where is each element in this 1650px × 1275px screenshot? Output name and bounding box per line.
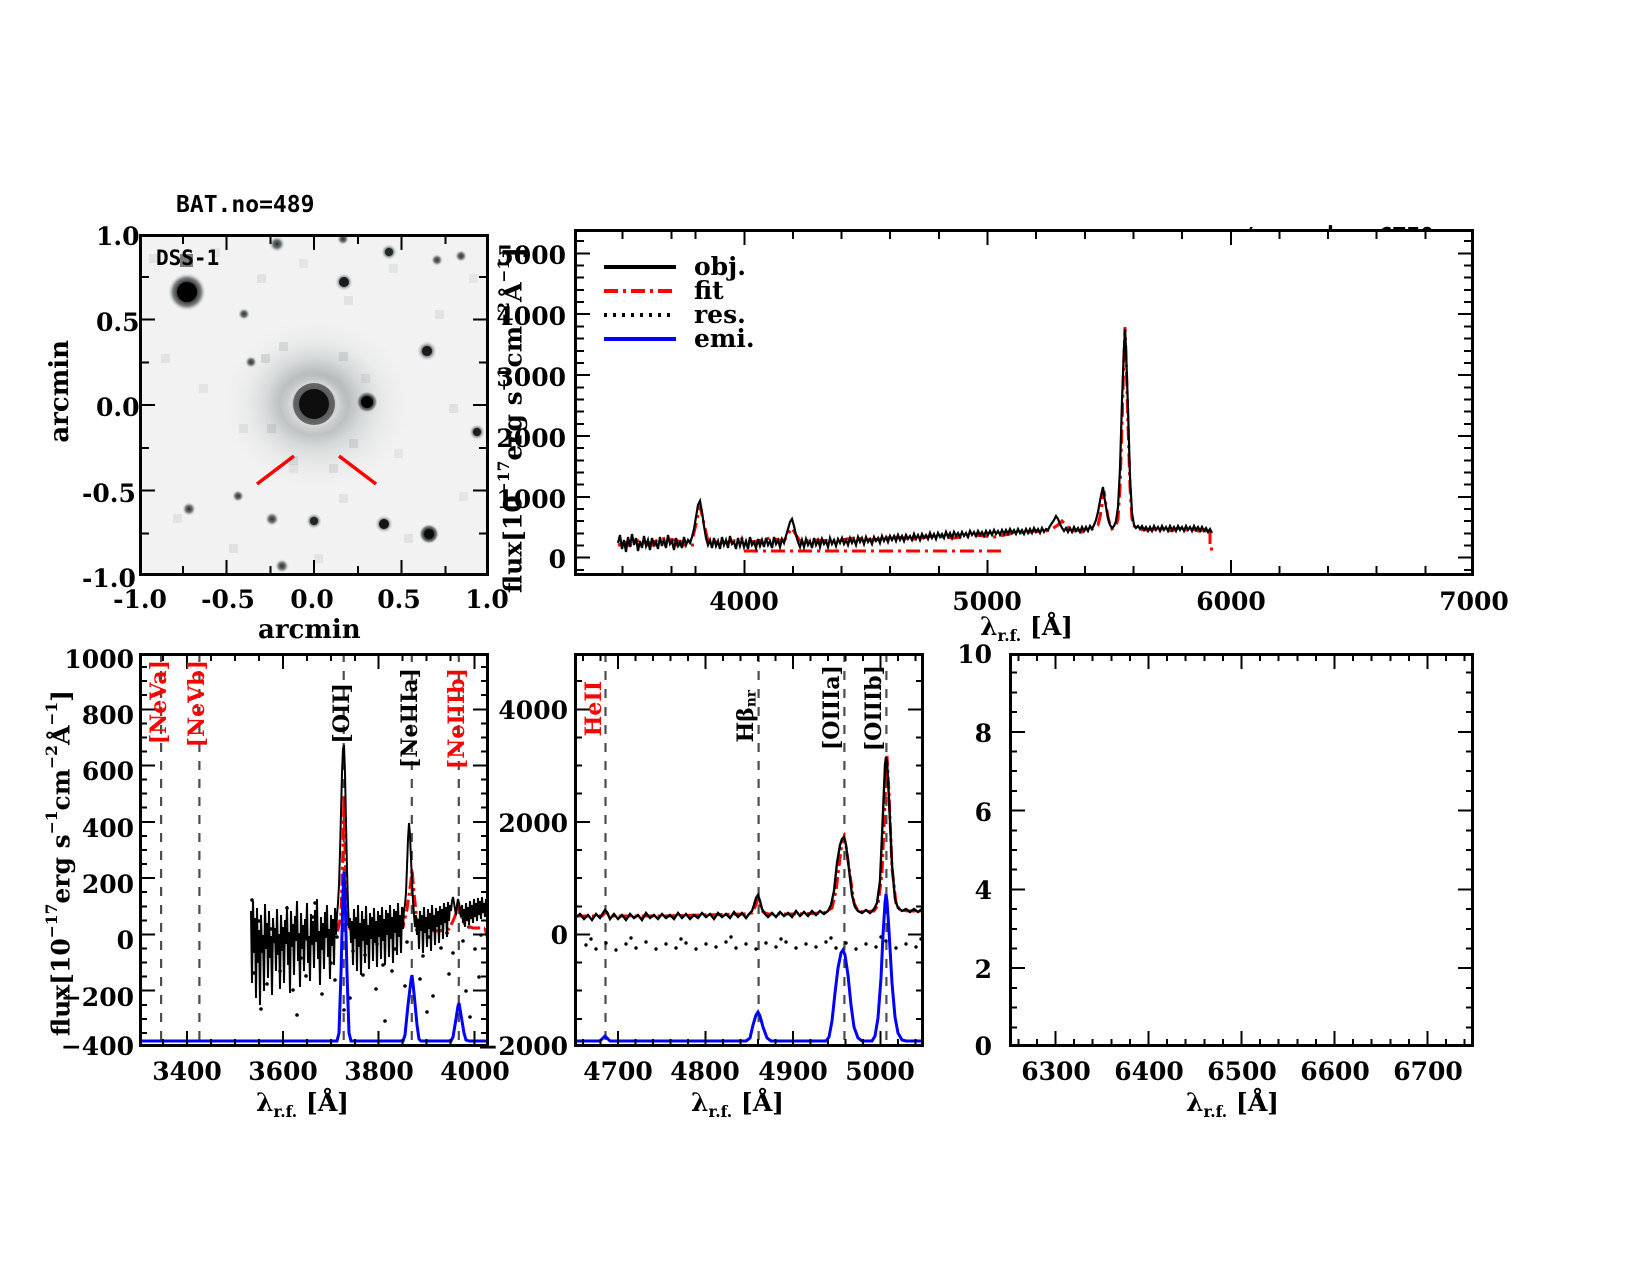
green-xtick-4800: 4800: [665, 1057, 745, 1086]
dss-ytick-0p0: 0.0: [96, 393, 132, 422]
red-xtick-6600: 6600: [1295, 1057, 1375, 1086]
red-zoom-xlabel: λr.f. [Å]: [1186, 1088, 1279, 1121]
red-ytick-0: 0: [932, 1032, 992, 1061]
line-label-hbeta: Hβnr: [733, 690, 759, 743]
line-label-neva: [NeVa]: [146, 660, 172, 744]
blue-ytick-1000: 1000: [42, 645, 134, 674]
red-zoom-canvas: [1009, 653, 1474, 1047]
dss-image-canvas: [139, 234, 489, 576]
spec-ylabel: flux[10−17erg s−1cm−2Å−1]: [494, 247, 527, 593]
spec-xtick-7000: 7000: [1434, 587, 1514, 616]
dss-ytick-1p0: 1.0: [96, 222, 132, 251]
line-label-oiiib: [OIIIb]: [861, 665, 887, 751]
red-xtick-6400: 6400: [1109, 1057, 1189, 1086]
green-ytick-m2000: −2000: [464, 1032, 568, 1061]
green-xtick-4900: 4900: [753, 1057, 833, 1086]
spec-xtick-6000: 6000: [1191, 587, 1271, 616]
red-ytick-6: 6: [932, 798, 992, 827]
line-label-oiiia: [OIIIa]: [819, 665, 845, 750]
red-xtick-6300: 6300: [1016, 1057, 1096, 1086]
red-ytick-2: 2: [932, 955, 992, 984]
blue-zoom-ylabel: flux[10−17erg s−1cm−2Å−1]: [42, 690, 75, 1036]
red-ytick-4: 4: [932, 876, 992, 905]
legend-label-emi: emi.: [694, 324, 755, 353]
dss-xtick-0p0: 0.0: [289, 585, 335, 614]
dss-ytick-m0p5: -0.5: [82, 479, 132, 508]
green-xtick-5000: 5000: [840, 1057, 920, 1086]
blue-ytick-m400: −400: [28, 1032, 134, 1061]
dss-ylabel: arcmin: [45, 340, 75, 443]
red-xtick-6700: 6700: [1388, 1057, 1468, 1086]
green-ytick-4000: 4000: [478, 696, 568, 725]
dss-image-panel: [139, 234, 489, 576]
dss-xlabel: arcmin: [258, 615, 361, 645]
green-ytick-2000: 2000: [478, 809, 568, 838]
line-label-heii: HeII: [581, 681, 607, 736]
dss-xtick-m1p0: -1.0: [112, 585, 168, 614]
blue-zoom-xlabel: λr.f. [Å]: [256, 1088, 349, 1121]
red-zoom-panel: [1009, 653, 1474, 1047]
blue-xtick-4000: 4000: [435, 1057, 515, 1086]
red-xtick-6500: 6500: [1202, 1057, 1282, 1086]
bat-number: BAT.no=489: [176, 190, 425, 221]
red-ytick-10: 10: [932, 640, 992, 669]
green-ytick-0: 0: [478, 921, 568, 950]
line-label-nevb: [NeVb]: [184, 660, 210, 747]
green-zoom-xlabel: λr.f. [Å]: [691, 1088, 784, 1121]
line-label-oii: [OII]: [329, 683, 355, 744]
green-xtick-4700: 4700: [578, 1057, 658, 1086]
dss-ytick-0p5: 0.5: [96, 308, 132, 337]
dss-xtick-0p5: 0.5: [376, 585, 422, 614]
line-label-neiiia: [NeIIIa]: [397, 668, 423, 768]
red-ytick-8: 8: [932, 719, 992, 748]
blue-xtick-3800: 3800: [339, 1057, 419, 1086]
dss-survey-label: DSS-1: [156, 243, 219, 274]
spec-xlabel: λr.f. [Å]: [980, 612, 1073, 645]
blue-xtick-3400: 3400: [147, 1057, 227, 1086]
blue-xtick-3600: 3600: [243, 1057, 323, 1086]
line-label-neiiib: [NeIIIb]: [444, 668, 470, 769]
spec-xtick-4000: 4000: [704, 587, 784, 616]
dss-xtick-m0p5: -0.5: [200, 585, 256, 614]
